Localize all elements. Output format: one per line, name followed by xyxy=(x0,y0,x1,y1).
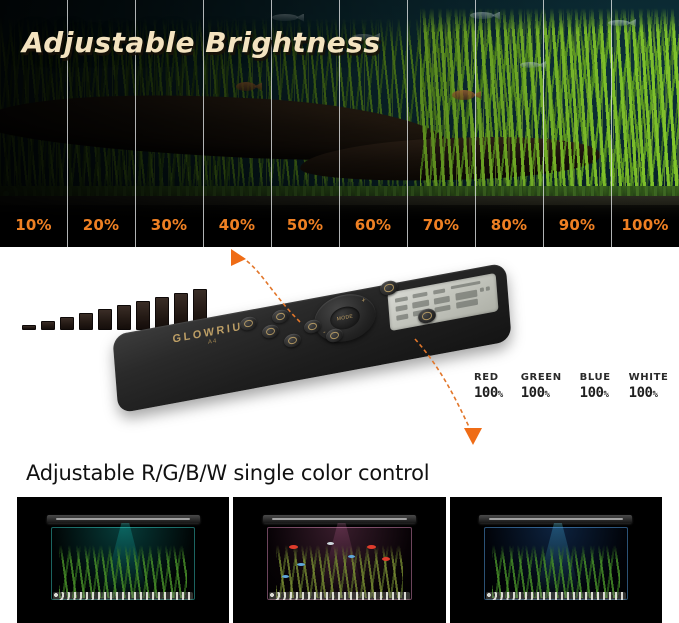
brightness-label-100: 100% xyxy=(611,216,679,234)
rgbw-label-green: GREEN xyxy=(521,372,562,383)
brightness-label-90: 90% xyxy=(543,216,611,234)
tank-gravel xyxy=(53,592,193,601)
brightness-label-30: 30% xyxy=(135,216,203,234)
page-title: Adjustable Brightness xyxy=(22,26,381,59)
tank-gravel xyxy=(486,592,626,601)
brightness-label-80: 80% xyxy=(475,216,543,234)
remote-mode-button[interactable]: MODE xyxy=(329,304,360,332)
gallery-item-cyan xyxy=(17,497,229,623)
rgbw-channel-blue: BLUE 100% xyxy=(580,372,611,401)
remote-section: GLOWRIUM A4 + - MODE RE xyxy=(0,247,679,487)
tank-fish xyxy=(289,545,298,549)
brightness-label-50: 50% xyxy=(271,216,339,234)
aquarium-gallery xyxy=(0,497,679,623)
brightness-label-40: 40% xyxy=(203,216,271,234)
brightness-label-70: 70% xyxy=(407,216,475,234)
rgbw-value-red: 100% xyxy=(474,385,503,401)
nav-up-label: + xyxy=(361,297,366,305)
rgbw-value-white: 100% xyxy=(629,385,669,401)
rgbw-channel-green: GREEN 100% xyxy=(521,372,562,401)
hero-brightness-banner: 10% 20% 30% 40% 50% 60% 70% 80% 90% 100%… xyxy=(0,0,679,247)
tank-plants xyxy=(492,545,619,598)
tank-plants xyxy=(59,545,186,598)
rgbw-channel-red: RED 100% xyxy=(474,372,503,401)
brightness-bar xyxy=(22,325,36,330)
arrow-head-up xyxy=(231,249,246,266)
led-light-bar xyxy=(47,515,200,524)
gallery-item-blue xyxy=(450,497,662,623)
rgbw-label-white: WHITE xyxy=(629,372,669,383)
led-light-bar xyxy=(479,515,632,524)
fish-silhouette xyxy=(236,82,256,91)
brightness-percent-labels: 10% 20% 30% 40% 50% 60% 70% 80% 90% 100% xyxy=(0,205,679,247)
fish-silhouette xyxy=(470,12,494,19)
tank-gravel xyxy=(269,592,409,601)
tank-plants xyxy=(276,545,403,598)
rgbw-value-green: 100% xyxy=(521,385,562,401)
section-heading: Adjustable R/G/B/W single color control xyxy=(26,461,429,485)
rgbw-label-red: RED xyxy=(474,372,503,383)
rgbw-readout: RED 100% GREEN 100% BLUE 100% WHITE 100% xyxy=(474,372,668,401)
gallery-item-pink xyxy=(233,497,445,623)
tank-fish xyxy=(348,555,355,558)
tank-fish xyxy=(297,563,305,566)
remote-control[interactable]: GLOWRIUM A4 + - MODE xyxy=(100,277,530,417)
rgbw-channel-white: WHITE 100% xyxy=(629,372,669,401)
rgbw-value-blue: 100% xyxy=(580,385,611,401)
brightness-bar xyxy=(79,313,93,330)
brightness-label-20: 20% xyxy=(67,216,135,234)
fish-silhouette xyxy=(520,62,540,68)
product-feature-page: 10% 20% 30% 40% 50% 60% 70% 80% 90% 100%… xyxy=(0,0,679,623)
brightness-label-60: 60% xyxy=(339,216,407,234)
brightness-bar xyxy=(60,317,74,330)
fish-silhouette xyxy=(452,90,475,100)
plants-right xyxy=(420,8,679,208)
brightness-label-10: 10% xyxy=(0,216,67,234)
tank-fish xyxy=(367,545,376,549)
fish-silhouette xyxy=(272,14,298,21)
brightness-bar xyxy=(41,321,55,330)
fish-silhouette xyxy=(608,20,630,26)
rgbw-label-blue: BLUE xyxy=(580,372,611,383)
led-light-bar xyxy=(263,515,416,524)
arrow-head-down xyxy=(464,428,482,445)
